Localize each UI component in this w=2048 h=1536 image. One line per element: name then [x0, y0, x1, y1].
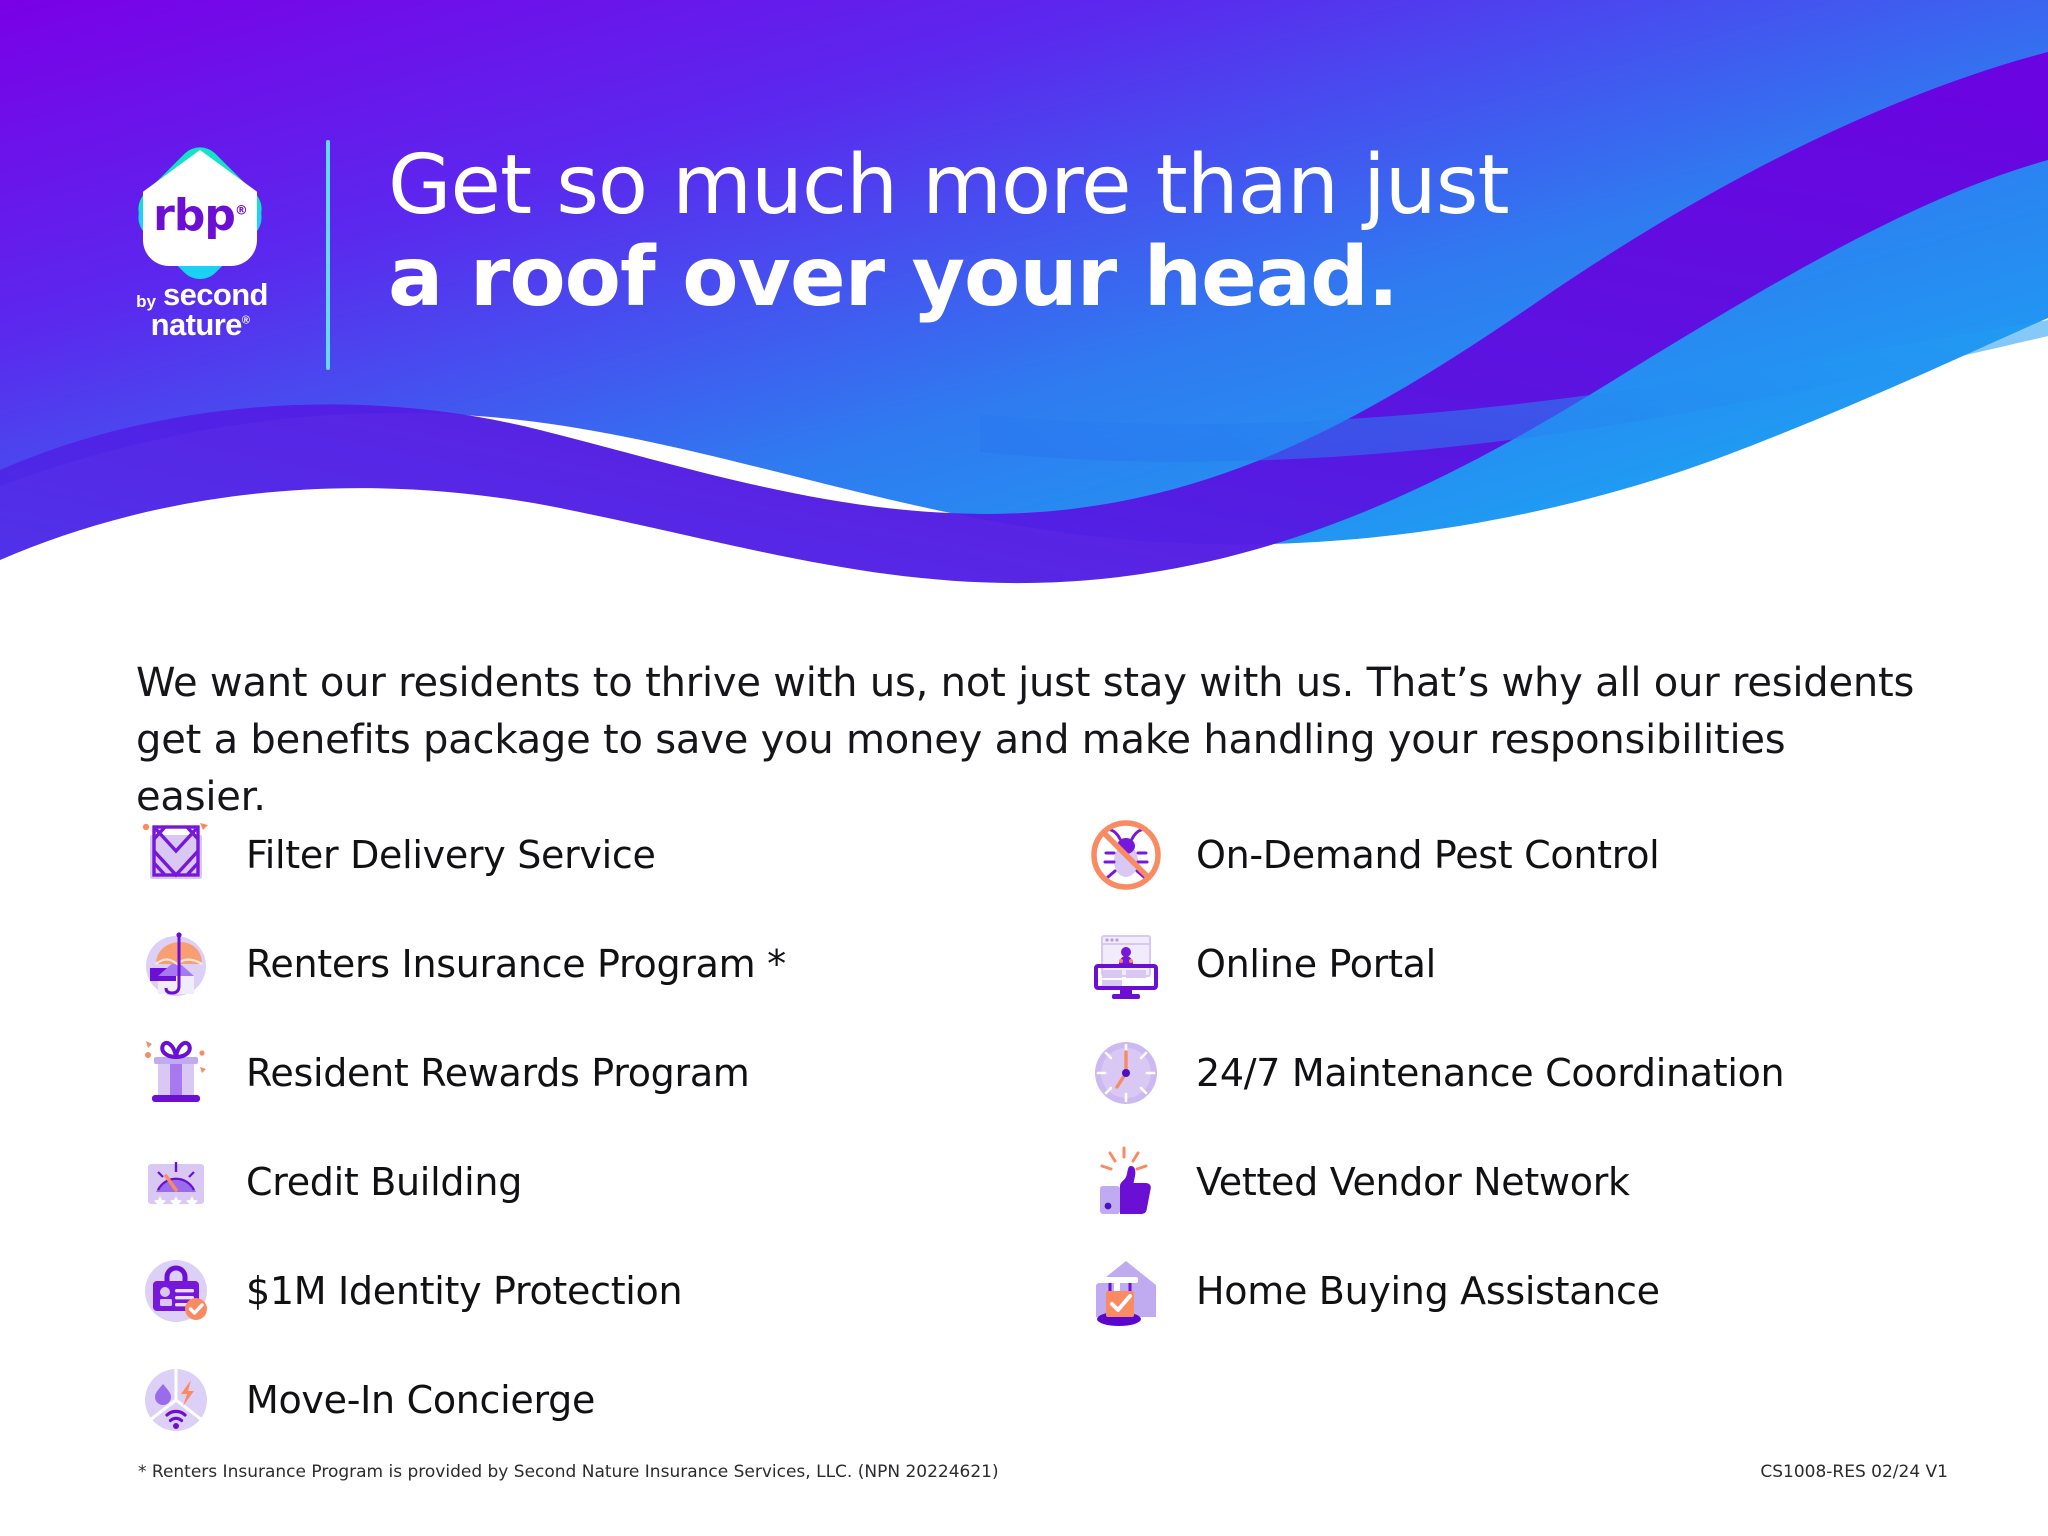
header-banner: rbp® by second nature® Get so much more … [0, 0, 2048, 600]
headline-line-2: a roof over your head. [388, 232, 1688, 324]
air-filter-icon [136, 815, 216, 895]
benefit-label: Online Portal [1196, 942, 1436, 986]
benefit-label: Home Buying Assistance [1196, 1269, 1660, 1313]
benefit-item-vetted-vendor: Vetted Vendor Network [1086, 1127, 1936, 1236]
rbp-logo-lockup: rbp® by second nature® [120, 138, 280, 341]
benefit-item-filter-delivery: Filter Delivery Service [136, 800, 1086, 909]
thumbs-up-icon [1086, 1142, 1166, 1222]
benefit-item-maintenance: 24/7 Maintenance Coordination [1086, 1018, 1936, 1127]
benefit-label: On-Demand Pest Control [1196, 833, 1659, 877]
company-name-line2-row: nature® [120, 310, 280, 340]
headline-line-1: Get so much more than just [388, 140, 1688, 232]
utilities-setup-icon [136, 1360, 216, 1440]
logo-registered-mark: ® [235, 203, 247, 218]
benefit-label: 24/7 Maintenance Coordination [1196, 1051, 1784, 1095]
rbp-logo-mark: rbp® [129, 138, 271, 280]
company-name-line1: second [163, 280, 268, 310]
benefit-item-resident-rewards: Resident Rewards Program [136, 1018, 1086, 1127]
company-name-line2: nature [151, 307, 242, 342]
benefit-item-renters-insurance: Renters Insurance Program * [136, 909, 1086, 1018]
benefit-item-home-buying: Home Buying Assistance [1086, 1236, 1936, 1345]
company-registered-mark: ® [242, 315, 250, 327]
logo-wordmark: rbp® [129, 190, 271, 241]
benefits-column-left: Filter Delivery Service Renters Insuranc… [136, 800, 1086, 1454]
benefit-label: Vetted Vendor Network [1196, 1160, 1630, 1204]
benefit-item-online-portal: Online Portal [1086, 909, 1936, 1018]
home-sold-sign-icon [1086, 1251, 1166, 1331]
umbrella-home-icon [136, 924, 216, 1004]
benefits-list: Filter Delivery Service Renters Insuranc… [136, 800, 1936, 1454]
footer-doc-code: CS1008-RES 02/24 V1 [1760, 1462, 1948, 1482]
benefit-label: $1M Identity Protection [246, 1269, 682, 1313]
benefit-label: Move-In Concierge [246, 1378, 595, 1422]
credit-gauge-icon [136, 1142, 216, 1222]
gift-box-icon [136, 1033, 216, 1113]
benefit-label: Resident Rewards Program [246, 1051, 750, 1095]
benefits-column-right: On-Demand Pest Control [1086, 800, 1936, 1454]
benefit-label: Filter Delivery Service [246, 833, 656, 877]
benefit-label: Renters Insurance Program * [246, 942, 786, 986]
clock-icon [1086, 1033, 1166, 1113]
benefit-item-identity-protection: $1M Identity Protection [136, 1236, 1086, 1345]
no-pest-icon [1086, 815, 1166, 895]
id-badge-lock-icon [136, 1251, 216, 1331]
benefit-item-credit-building: Credit Building [136, 1127, 1086, 1236]
header-divider [326, 140, 330, 370]
benefit-label: Credit Building [246, 1160, 522, 1204]
logo-wordmark-text: rbp [153, 190, 235, 241]
desktop-portal-icon [1086, 924, 1166, 1004]
benefit-item-move-in-concierge: Move-In Concierge [136, 1345, 1086, 1454]
by-second-nature-row: by second [120, 280, 280, 310]
headline: Get so much more than just a roof over y… [388, 140, 1688, 324]
benefit-item-pest-control: On-Demand Pest Control [1086, 800, 1936, 909]
footer-disclaimer: * Renters Insurance Program is provided … [138, 1462, 999, 1482]
